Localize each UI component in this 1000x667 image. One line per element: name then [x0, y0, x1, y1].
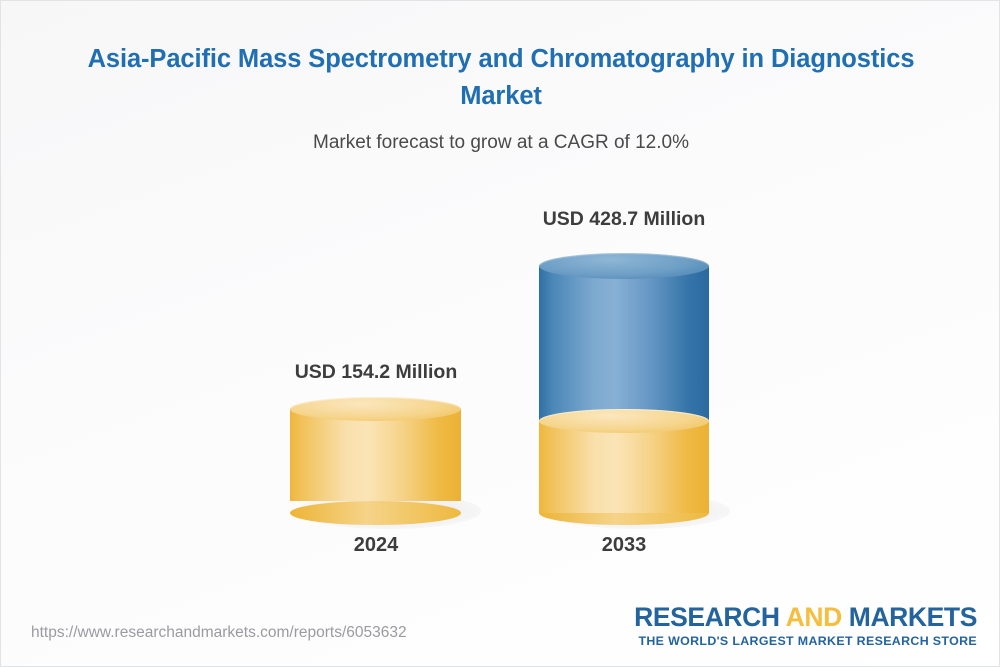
value-label-2024: USD 154.2 Million [276, 361, 476, 384]
cylinder-bottom-cap-2024 [290, 501, 461, 525]
chart-container: Asia-Pacific Mass Spectrometry and Chrom… [0, 0, 1000, 667]
value-label-2033: USD 428.7 Million [524, 208, 724, 231]
cylinder-body-2024 [290, 409, 461, 501]
plot-area: USD 154.2 Million 2024 USD 428.7 Million [1, 1, 1000, 667]
cylinder-top-cap-2033 [539, 253, 709, 279]
category-label-2024: 2024 [286, 534, 466, 557]
cylinder-2024[interactable] [290, 397, 461, 513]
cylinder-top-cap-2024 [290, 397, 461, 421]
logo-tagline: THE WORLD'S LARGEST MARKET RESEARCH STOR… [634, 634, 977, 648]
cylinder-2033[interactable] [539, 253, 709, 513]
logo-word-markets: MARKETS [849, 602, 977, 632]
logo-wordmark: RESEARCH AND MARKETS [634, 604, 977, 632]
category-label-2033: 2033 [534, 534, 714, 557]
report-url[interactable]: https://www.researchandmarkets.com/repor… [31, 624, 407, 642]
cylinder-body-lower-2033 [539, 421, 709, 513]
logo-word-research: RESEARCH [634, 602, 780, 632]
brand-logo[interactable]: RESEARCH AND MARKETS THE WORLD'S LARGEST… [634, 604, 977, 648]
segment-divider-2033 [539, 409, 709, 433]
logo-word-and: AND [780, 602, 849, 632]
